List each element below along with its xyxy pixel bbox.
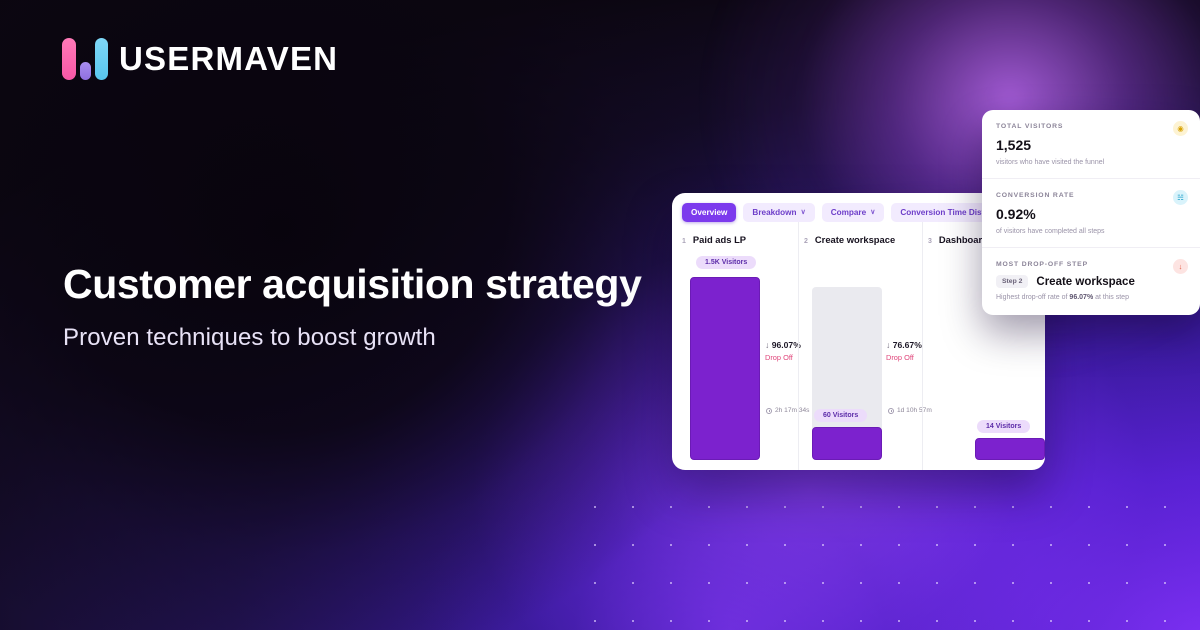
funnel-step-3-name: Dashboard — [939, 234, 988, 245]
funnel-step-2-number: 2 — [804, 238, 808, 245]
stat-total-visitors: ◉ TOTAL VISITORS 1,525 visitors who have… — [982, 110, 1200, 179]
funnel-step-3-bar[interactable] — [975, 438, 1045, 460]
stat-total-visitors-desc: visitors who have visited the funnel — [996, 159, 1186, 166]
funnel-step-1-header: 1 Paid ads LP — [682, 234, 798, 245]
funnel-step-1: 1 Paid ads LP 1.5K Visitors 2h 17m 34s ↓… — [672, 234, 798, 460]
funnel-step-2-chart: 60 Visitors 1d 10h 57m ↓ 76.67% Drop Off — [804, 254, 922, 460]
funnel-step-2-bar[interactable] — [812, 427, 882, 460]
stat-total-visitors-value: 1,525 — [996, 137, 1186, 153]
stat-dropoff-desc-post: at this step — [1093, 294, 1129, 301]
stat-conversion-rate-value: 0.92% — [996, 206, 1186, 222]
tab-overview[interactable]: Overview — [682, 203, 736, 222]
column-divider — [798, 222, 799, 470]
arrow-down-icon: ↓ — [765, 340, 769, 350]
tab-overview-label: Overview — [691, 208, 727, 217]
logo-bar-cyan — [95, 38, 108, 80]
funnel-step-3-visitors-badge: 14 Visitors — [977, 420, 1030, 433]
stat-conversion-rate-desc: of visitors have completed all steps — [996, 228, 1186, 235]
funnel-dropoff-2-label: Drop Off — [886, 353, 922, 362]
stat-dropoff-desc-value: 96.07% — [1069, 294, 1093, 301]
stat-most-dropoff-desc: Highest drop-off rate of 96.07% at this … — [996, 294, 1186, 301]
stat-most-dropoff-label: MOST DROP-OFF STEP — [996, 261, 1186, 268]
brand-name: USERMAVEN — [119, 40, 338, 78]
hero-text-block: Customer acquisition strategy Proven tec… — [63, 262, 703, 352]
funnel-step-1-name: Paid ads LP — [693, 234, 746, 245]
stat-total-visitors-label: TOTAL VISITORS — [996, 123, 1186, 130]
dot-grid-pattern — [568, 482, 1200, 630]
brand-logo: USERMAVEN — [62, 38, 338, 80]
funnel-step-2-visitors-badge: 60 Visitors — [814, 409, 867, 422]
chevron-down-icon: ∨ — [870, 209, 875, 216]
status-badge: Step 2 — [996, 275, 1028, 288]
page-subtitle: Proven techniques to boost growth — [63, 324, 703, 352]
funnel-step-2-name: Create workspace — [815, 234, 895, 245]
funnel-summary-card: ◉ TOTAL VISITORS 1,525 visitors who have… — [982, 110, 1200, 315]
chevron-down-icon: ∨ — [801, 209, 806, 216]
stat-most-dropoff-step: ↓ MOST DROP-OFF STEP Step 2 Create works… — [982, 248, 1200, 313]
tab-breakdown-label: Breakdown — [752, 208, 796, 217]
funnel-step-1-visitors-badge: 1.5K Visitors — [696, 256, 756, 269]
stat-conversion-rate-label: CONVERSION RATE — [996, 192, 1186, 199]
users-icon: ☵ — [1173, 190, 1188, 205]
logo-bar-pink — [62, 38, 76, 80]
clock-icon — [766, 408, 772, 414]
arrow-down-icon: ↓ — [886, 340, 890, 350]
funnel-step-2-header: 2 Create workspace — [804, 234, 922, 245]
usermaven-bars-logo-icon — [62, 38, 108, 80]
funnel-dropoff-1-label: Drop Off — [765, 353, 801, 362]
funnel-dropoff-1: ↓ 96.07% Drop Off — [765, 340, 801, 362]
clock-icon — [888, 408, 894, 414]
funnel-step-3-number: 3 — [928, 238, 932, 245]
logo-bar-purple — [80, 62, 91, 80]
stat-most-dropoff-step-name: Create workspace — [1036, 276, 1134, 288]
funnel-step-2: 2 Create workspace 60 Visitors 1d 10h 57… — [798, 234, 922, 460]
funnel-dropoff-1-pct-row: ↓ 96.07% — [765, 340, 801, 350]
stat-conversion-rate: ☵ CONVERSION RATE 0.92% of visitors have… — [982, 179, 1200, 248]
arrow-down-icon: ↓ — [1173, 259, 1188, 274]
eye-icon: ◉ — [1173, 121, 1188, 136]
tab-compare-label: Compare — [831, 208, 867, 217]
tab-breakdown[interactable]: Breakdown ∨ — [743, 203, 814, 222]
funnel-step-1-number: 1 — [682, 238, 686, 245]
funnel-dropoff-2: ↓ 76.67% Drop Off — [886, 340, 922, 362]
funnel-dropoff-2-pct-row: ↓ 76.67% — [886, 340, 922, 350]
stat-dropoff-desc-pre: Highest drop-off rate of — [996, 294, 1069, 301]
funnel-dropoff-2-pct: 76.67% — [893, 340, 922, 350]
stat-most-dropoff-row: Step 2 Create workspace — [996, 275, 1186, 288]
page-title: Customer acquisition strategy — [63, 262, 703, 308]
column-divider — [922, 222, 923, 470]
tab-compare[interactable]: Compare ∨ — [822, 203, 885, 222]
funnel-step-1-chart: 1.5K Visitors 2h 17m 34s ↓ 96.07% Drop O… — [682, 254, 798, 460]
funnel-dropoff-1-pct: 96.07% — [772, 340, 801, 350]
funnel-step-1-bar[interactable] — [690, 277, 760, 460]
